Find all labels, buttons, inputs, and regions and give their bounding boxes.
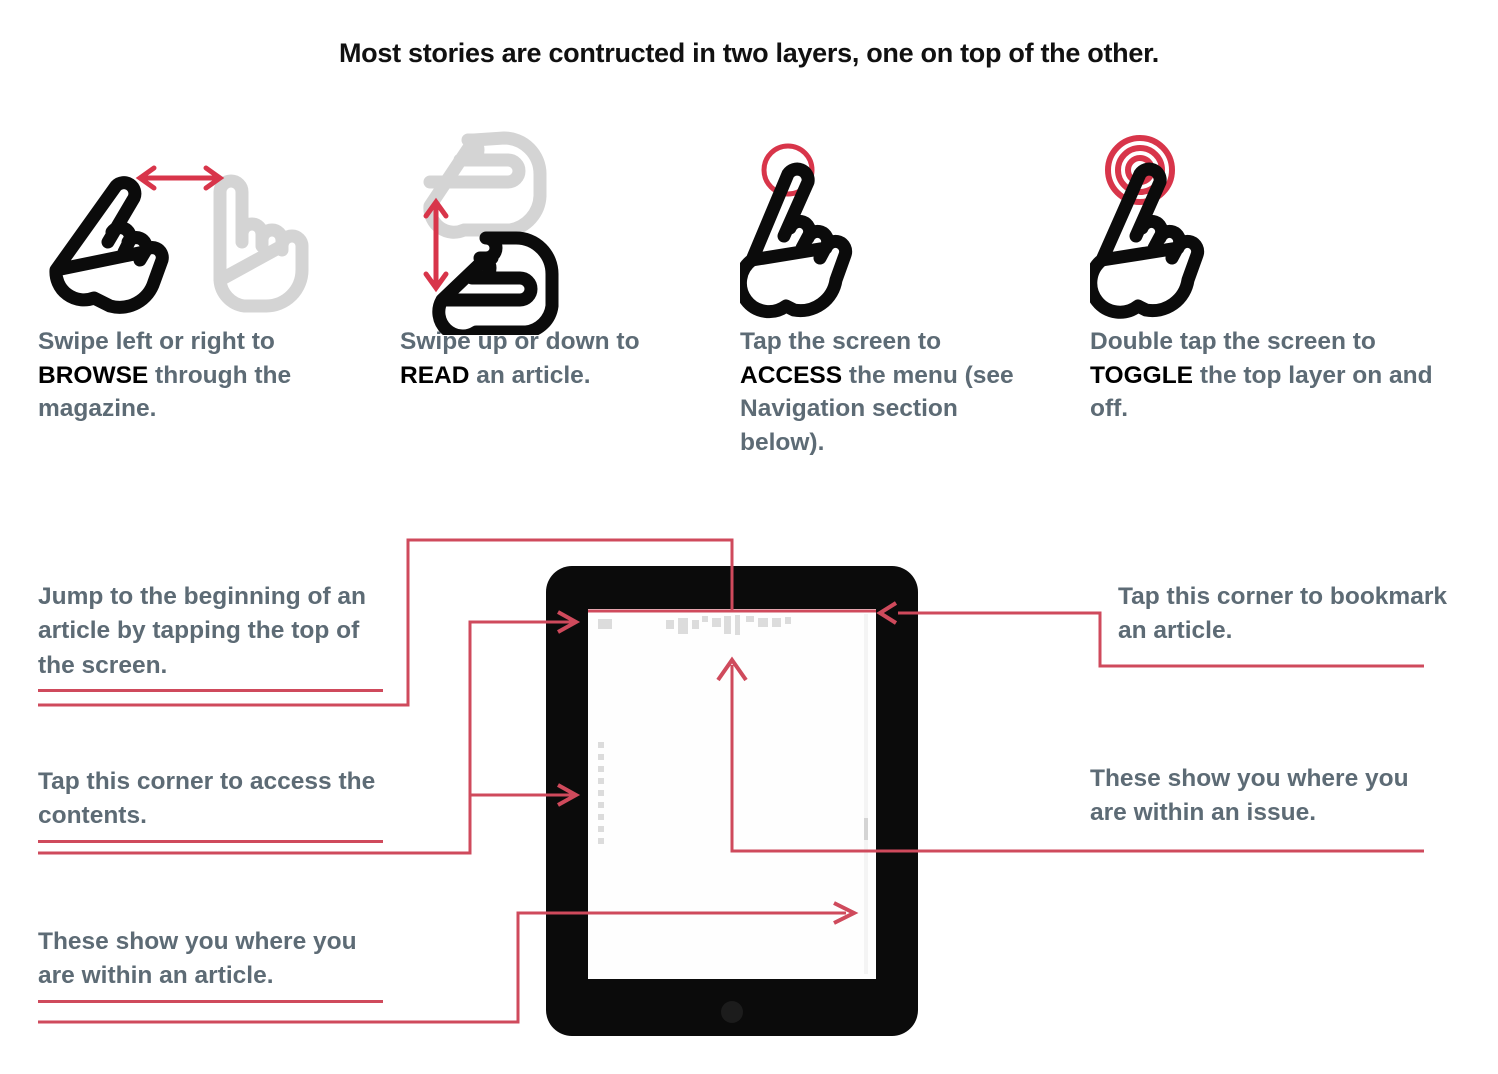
callout-contents-rule (38, 840, 383, 843)
tablet-body (546, 566, 918, 1036)
callout-jump-rule (38, 689, 383, 692)
callout-article-position-text: These show you where you are within an a… (38, 925, 383, 994)
swipe-horizontal-icon (38, 130, 368, 325)
callout-bookmark-text: Tap this corner to bookmark an article. (1118, 580, 1448, 649)
connector-article-dots-arrow (834, 903, 854, 923)
gesture-double-tap: Double tap the screen to TOGGLE the top … (1090, 130, 1435, 426)
gesture-text-after: an article. (469, 362, 590, 389)
gesture-keyword: ACCESS (740, 362, 842, 389)
swipe-vertical-icon (400, 130, 700, 325)
gesture-text-before: Swipe left or right to (38, 328, 275, 355)
gesture-single-tap: Tap the screen to ACCESS the menu (see N… (740, 130, 1030, 459)
gesture-caption: Tap the screen to ACCESS the menu (see N… (740, 325, 1030, 459)
callout-article-position-rule (38, 1000, 383, 1003)
callout-issue-position-text: These show you where you are within an i… (1090, 762, 1435, 831)
gesture-keyword: TOGGLE (1090, 362, 1193, 389)
gesture-text-before: Double tap the screen to (1090, 328, 1376, 355)
callout-bookmark: Tap this corner to bookmark an article. (1118, 580, 1448, 649)
callout-contents: Tap this corner to access the contents. (38, 765, 383, 843)
callout-contents-text: Tap this corner to access the contents. (38, 765, 383, 834)
connector-issue-arrow (718, 660, 746, 680)
gesture-caption: Swipe up or down to READ an article. (400, 325, 700, 392)
callout-issue-position: These show you where you are within an i… (1090, 762, 1435, 831)
home-button (721, 1001, 743, 1023)
gesture-keyword: BROWSE (38, 362, 148, 389)
gesture-caption: Swipe left or right to BROWSE through th… (38, 325, 368, 426)
connector-contents-arrow (558, 612, 576, 632)
gesture-keyword: READ (400, 362, 469, 389)
connector-bookmark-arrow (880, 603, 896, 623)
gesture-swipe-horizontal: Swipe left or right to BROWSE through th… (38, 130, 368, 426)
contents-icon-block (598, 619, 612, 629)
connector-contents-lower-arrow (558, 785, 576, 805)
tablet-screen (588, 609, 876, 979)
single-tap-icon (740, 130, 1030, 325)
issue-position-track (864, 614, 868, 974)
headline-placeholder-blocks (666, 615, 791, 635)
gesture-swipe-vertical: Swipe up or down to READ an article. (400, 130, 700, 392)
issue-position-thumb (864, 818, 868, 840)
gesture-text-before: Tap the screen to (740, 328, 941, 355)
article-position-dots (598, 742, 604, 844)
double-tap-icon (1090, 130, 1435, 325)
callout-jump: Jump to the beginning of an article by t… (38, 580, 383, 692)
gesture-caption: Double tap the screen to TOGGLE the top … (1090, 325, 1435, 426)
callout-article-position: These show you where you are within an a… (38, 925, 383, 1003)
callout-jump-text: Jump to the beginning of an article by t… (38, 580, 383, 683)
page-title: Most stories are contructed in two layer… (0, 38, 1498, 69)
